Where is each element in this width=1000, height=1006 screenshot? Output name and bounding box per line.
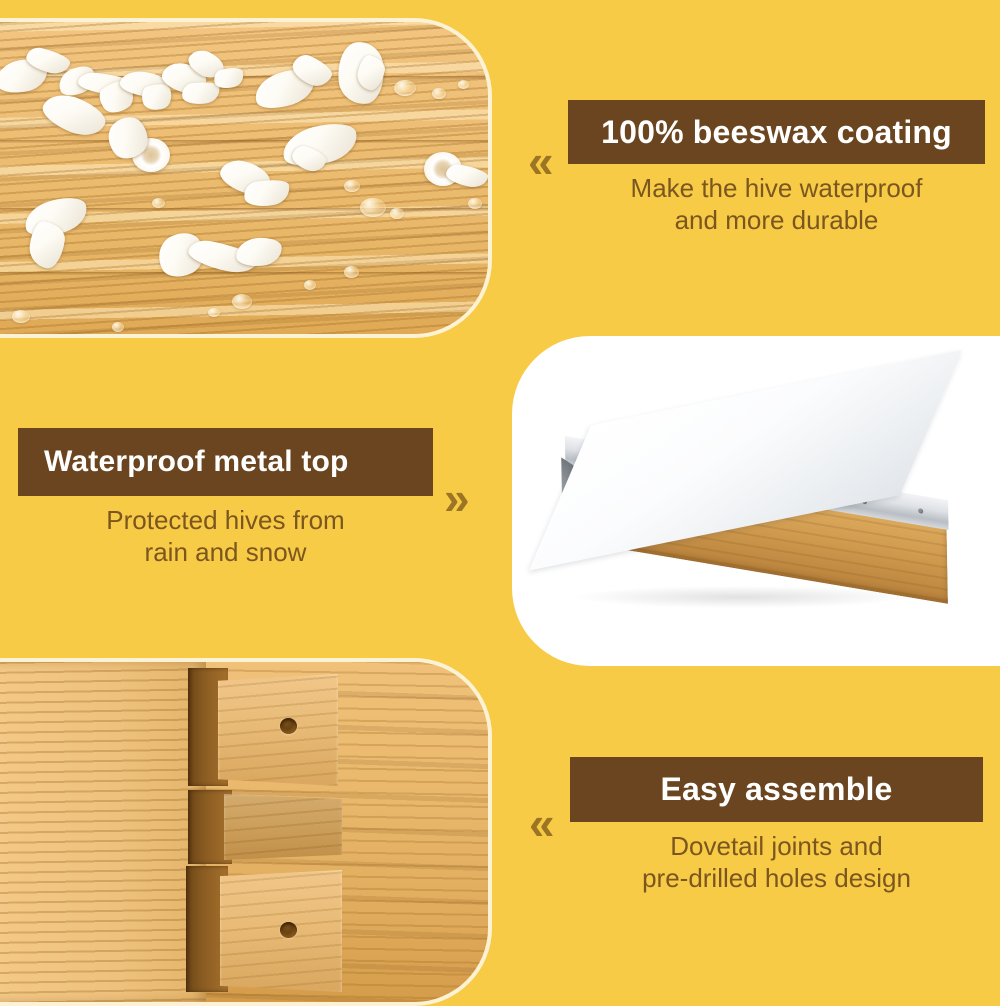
feature-banner-beeswax: 100% beeswax coating — [568, 100, 985, 164]
feature-block-beeswax: 100% beeswax coating Make the hive water… — [568, 100, 985, 236]
feature-block-assemble: Easy assemble Dovetail joints and pre-dr… — [570, 757, 983, 894]
feature-subtitle-assemble: Dovetail joints and pre-drilled holes de… — [570, 831, 983, 894]
feature-title-beeswax: 100% beeswax coating — [601, 114, 952, 151]
photo-metal-top — [512, 336, 1000, 666]
photo-beeswax-shavings — [0, 18, 492, 338]
infographic-canvas: « 100% beeswax coating Make the hive wat… — [0, 0, 1000, 1000]
hive-roof-illustration — [558, 391, 962, 608]
feature-banner-metaltop: Waterproof metal top — [18, 428, 433, 496]
feature-subtitle-beeswax: Make the hive waterproof and more durabl… — [568, 173, 985, 236]
photo-dovetail-joint — [0, 658, 492, 1006]
feature-subtitle-metaltop: Protected hives from rain and snow — [18, 505, 433, 568]
feature-banner-assemble: Easy assemble — [570, 757, 983, 822]
chevron-left-icon-beeswax: « — [528, 138, 554, 184]
chevron-right-icon-metaltop: » — [444, 475, 470, 521]
feature-title-metaltop: Waterproof metal top — [44, 445, 349, 479]
chevron-left-icon-assemble: « — [529, 800, 555, 846]
feature-block-metaltop: Waterproof metal top Protected hives fro… — [18, 428, 433, 568]
feature-title-assemble: Easy assemble — [660, 771, 892, 808]
